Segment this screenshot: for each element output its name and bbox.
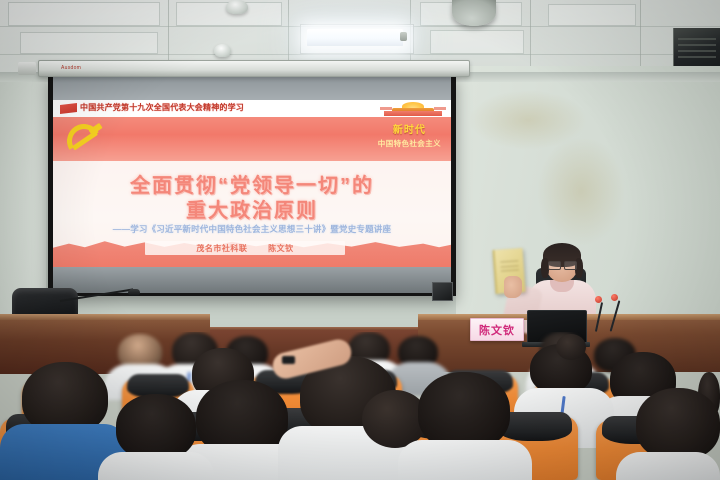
fluorescent-light-icon (307, 29, 403, 46)
roller-brand-label: Ausdom (61, 65, 81, 71)
smoke-detector-icon (214, 44, 231, 57)
projection-screen: 中国共产党第十九次全国代表大会精神的学习 (48, 74, 456, 296)
screen-roller-housing: Ausdom (38, 60, 470, 77)
attendee-shoulders (616, 452, 720, 480)
credit-speaker-name: 陈文钦 (268, 244, 294, 253)
presenter-hand (504, 276, 522, 298)
slide-credits: 茂名市社科联 陈文钦 (145, 243, 345, 254)
attendee-head (636, 388, 720, 460)
new-era-line1: 新时代 (378, 121, 441, 136)
attendee-head (418, 372, 510, 450)
audience-area (0, 332, 720, 480)
slide-subtitle: ——学习《习近平新时代中国特色社会主义思想三十讲》暨党史专题讲座 (53, 223, 451, 235)
gooseneck-microphone-icon (604, 294, 630, 332)
new-era-line2: 中国特色社会主义 (378, 138, 441, 149)
wall-plaque (432, 282, 453, 301)
sprinkler-icon (400, 32, 407, 41)
attendee-shoulders (98, 452, 214, 480)
hair-bun (556, 334, 586, 360)
hammer-and-sickle-icon (65, 121, 105, 153)
desk-microphone-icon (128, 289, 140, 296)
slide-header-text: 中国共产党第十九次全国代表大会精神的学习 (80, 102, 244, 113)
slide-title-line2: 重大政治原则 (53, 194, 451, 223)
slide-body: 全面贯彻“党领导一切”的 重大政治原则 ——学习《习近平新时代中国特色社会主义思… (53, 161, 451, 267)
slide-red-banner: 新时代 中国特色社会主义 (53, 117, 451, 161)
eyeglasses-icon (548, 261, 577, 268)
presentation-slide: 中国共产党第十九次全国代表大会精神的学习 (53, 100, 451, 267)
lecture-hall-photo: Ausdom 中国共产党第十九次全国代表大会精神的学习 (0, 0, 720, 480)
podium-edge-left (0, 314, 210, 320)
chinese-flag-icon (60, 103, 77, 114)
credit-organization: 茂名市社科联 (196, 244, 247, 253)
smoke-detector-icon (226, 0, 248, 14)
left-wall (0, 72, 46, 322)
attendee-head (116, 394, 196, 460)
attendee-shoulders (398, 440, 532, 480)
slide-header-bar: 中国共产党第十九次全国代表大会精神的学习 (53, 100, 451, 117)
wristwatch-icon (282, 356, 295, 364)
tiananmen-gate-icon (380, 102, 446, 116)
new-era-caption: 新时代 中国特色社会主义 (378, 121, 441, 149)
ceiling-dome-icon (452, 0, 496, 26)
screen-roller-endcap (18, 62, 36, 75)
